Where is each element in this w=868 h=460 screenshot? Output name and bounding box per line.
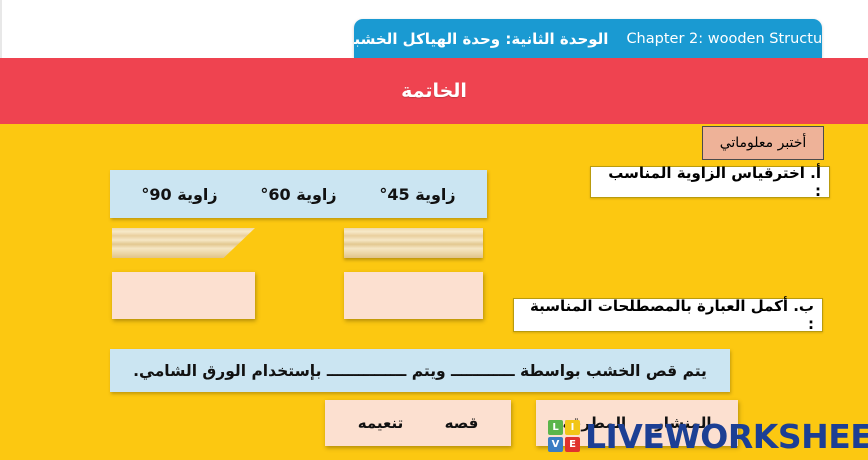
question-b-sentence-panel: يتم قص الخشب بواسطة ــــــــــــ ويتم ــ…: [110, 349, 730, 392]
question-a-prompt-text: أ. اخترقياس الزاوية المناسب :: [599, 164, 821, 200]
section-banner-title: الخاتمة: [401, 80, 467, 102]
top-strip: Chapter 2: wooden Structure الوحدة الثان…: [0, 0, 868, 58]
option-angle-90[interactable]: زاوية 90°: [141, 185, 217, 204]
test-knowledge-label: أختبر معلوماتي: [720, 135, 807, 151]
chapter-tab[interactable]: Chapter 2: wooden Structure الوحدة الثان…: [354, 19, 822, 58]
answer-drop-box-right[interactable]: [344, 272, 483, 319]
question-b-prompt: ب. أكمل العبارة بالمصطلحات المناسبة :: [513, 298, 823, 332]
liveworksheets-logo-icon: L I V E: [548, 420, 580, 452]
logo-tile-e: E: [565, 437, 580, 452]
word-bank-item-tanimah[interactable]: تنعيمه: [358, 414, 404, 432]
option-angle-60[interactable]: زاوية 60°: [260, 185, 336, 204]
logo-tile-l: L: [548, 420, 563, 435]
answer-drop-box-left[interactable]: [112, 272, 255, 319]
question-b-prompt-text: ب. أكمل العبارة بالمصطلحات المناسبة :: [522, 297, 814, 333]
word-bank-left[interactable]: قصه تنعيمه: [325, 400, 511, 446]
chapter-tab-arabic-title: الوحدة الثانية: وحدة الهياكل الخشبية: [354, 30, 608, 48]
question-a-prompt: أ. اخترقياس الزاوية المناسب :: [590, 166, 830, 198]
question-b-sentence-text: يتم قص الخشب بواسطة ــــــــــــ ويتم ــ…: [133, 362, 707, 380]
worksheet-body: أختبر معلوماتي أ. اخترقياس الزاوية المنا…: [0, 124, 868, 460]
liveworksheets-watermark: L I V E LIVEWORKSHEETS: [548, 418, 868, 454]
test-knowledge-chip: أختبر معلوماتي: [702, 126, 824, 160]
beveled-wood-plank-image: [112, 228, 255, 258]
liveworksheets-wordmark: LIVEWORKSHEETS: [585, 420, 868, 453]
chapter-tab-english-title: Chapter 2: wooden Structure: [626, 31, 822, 47]
logo-tile-i: I: [565, 420, 580, 435]
question-a-options-panel: زاوية 45° زاوية 60° زاوية 90°: [110, 170, 487, 218]
square-wood-plank-image: [344, 228, 483, 258]
worksheet-page: Chapter 2: wooden Structure الوحدة الثان…: [0, 0, 868, 460]
word-bank-item-qassah[interactable]: قصه: [445, 414, 479, 432]
logo-tile-v: V: [548, 437, 563, 452]
option-angle-45[interactable]: زاوية 45°: [379, 185, 455, 204]
section-banner: الخاتمة: [0, 58, 868, 124]
